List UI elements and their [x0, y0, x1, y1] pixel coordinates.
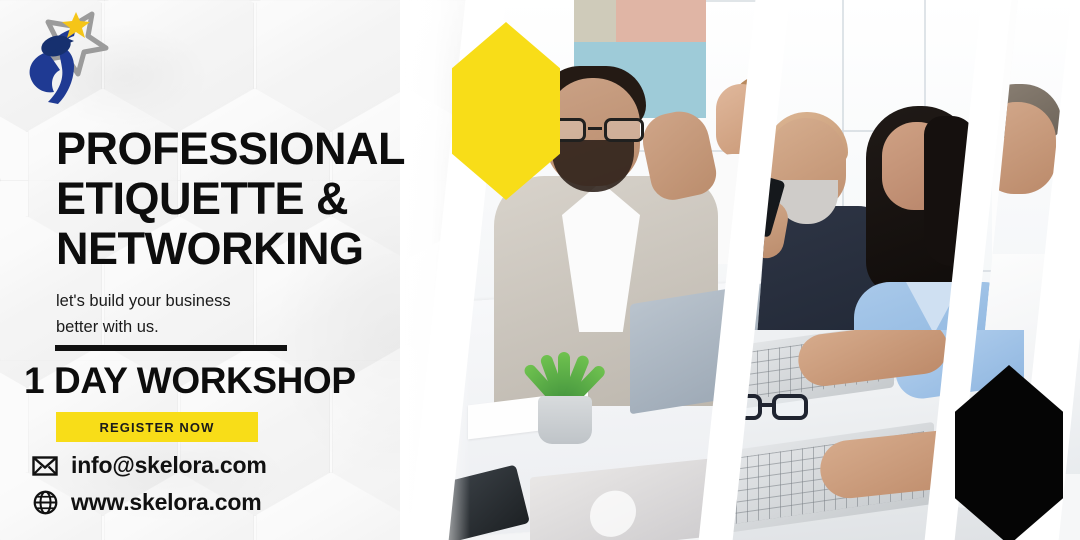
content-panel: PROFESSIONAL ETIQUETTE & NETWORKING let'…: [0, 0, 470, 540]
page-title: PROFESSIONAL ETIQUETTE & NETWORKING: [56, 124, 476, 274]
register-now-button[interactable]: REGISTER NOW: [56, 412, 258, 442]
tagline-line-2: better with us.: [56, 314, 356, 340]
tagline: let's build your business better with us…: [56, 288, 356, 340]
envelope-icon: [32, 453, 58, 479]
tagline-line-1: let's build your business: [56, 288, 356, 314]
headline-line-2: ETIQUETTE &: [56, 174, 476, 224]
contact-email[interactable]: info@skelora.com: [32, 452, 267, 479]
divider-rule: [55, 345, 287, 351]
headline-line-3: NETWORKING: [56, 224, 476, 274]
email-address: info@skelora.com: [71, 452, 267, 479]
event-banner: PROFESSIONAL ETIQUETTE & NETWORKING let'…: [0, 0, 1080, 540]
graduate-star-logo-icon: [14, 8, 118, 106]
website-url: www.skelora.com: [71, 489, 261, 516]
headline-line-1: PROFESSIONAL: [56, 124, 476, 174]
plant-pot: [538, 396, 592, 444]
contact-website[interactable]: www.skelora.com: [32, 489, 261, 516]
globe-icon: [32, 490, 58, 516]
workshop-title: 1 DAY WORKSHOP: [24, 360, 356, 402]
